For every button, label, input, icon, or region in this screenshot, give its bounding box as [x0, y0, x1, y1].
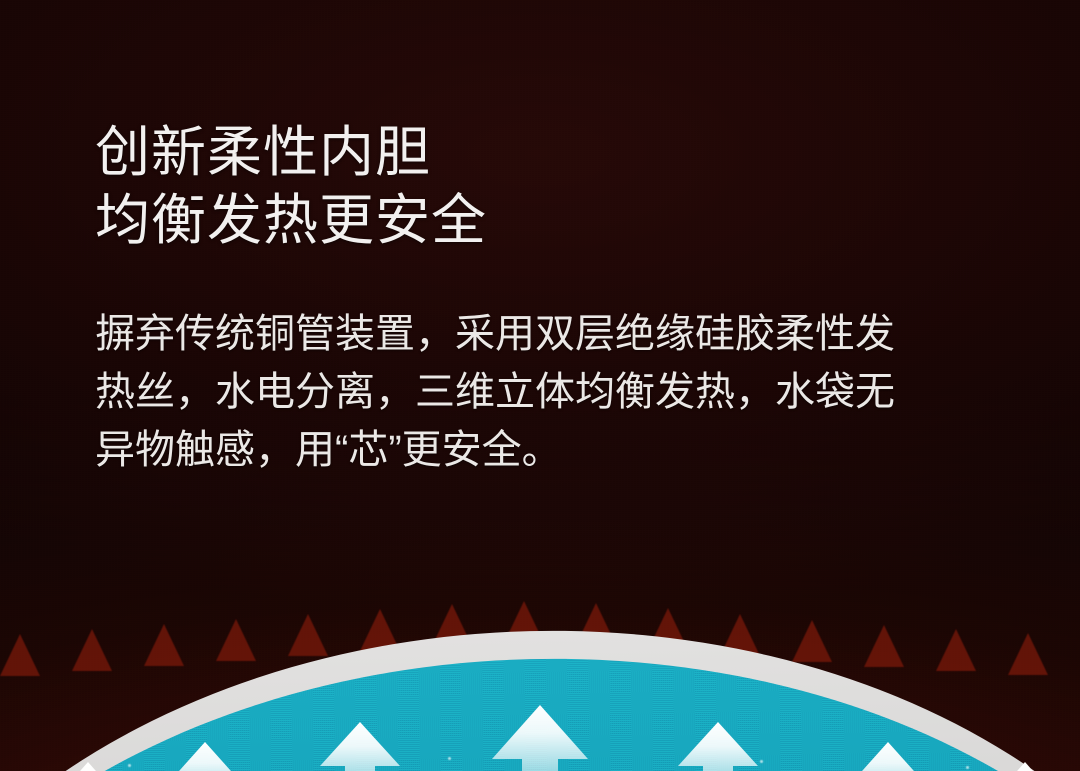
water-glint	[966, 766, 969, 769]
arrow-head	[320, 722, 400, 766]
arrow-head	[995, 762, 1055, 771]
rising-heat-arrow	[320, 722, 400, 771]
heat-wave-triangle	[792, 620, 832, 662]
rising-heat-arrow	[854, 742, 922, 771]
rising-heat-arrow	[492, 705, 588, 771]
heat-wave-triangle	[936, 629, 976, 671]
banner-canvas: 创新柔性内胆 均衡发热更安全 摒弃传统铜管装置，采用双层绝缘硅胶柔性发 热丝，水…	[0, 0, 1080, 771]
heat-wave-triangle	[1008, 633, 1048, 675]
body-description: 摒弃传统铜管装置，采用双层绝缘硅胶柔性发 热丝，水电分离，三维立体均衡发热，水袋…	[95, 305, 1000, 479]
water-glint	[448, 757, 451, 760]
heat-wave-triangle	[864, 625, 904, 667]
arrow-shaft	[522, 759, 558, 771]
arrow-head	[171, 742, 239, 771]
arrow-head	[854, 742, 922, 771]
page-title: 创新柔性内胆 均衡发热更安全	[95, 118, 487, 254]
heat-wave-triangle	[288, 614, 328, 656]
rising-heat-arrow	[58, 762, 118, 771]
heat-wave-triangle	[72, 629, 112, 671]
heat-wave-triangle	[216, 619, 256, 661]
water-glint	[760, 760, 763, 763]
rising-heat-arrow	[171, 742, 239, 771]
arrow-shaft	[703, 766, 733, 771]
arrow-head	[58, 762, 118, 771]
arrow-head	[492, 705, 588, 759]
heat-wave-triangle	[144, 624, 184, 666]
arrow-shaft	[345, 766, 375, 771]
arrow-head	[678, 722, 758, 766]
heat-distribution-illustration	[0, 571, 1080, 771]
rising-heat-arrow	[995, 762, 1055, 771]
heat-wave-triangle	[0, 634, 40, 676]
water-glint	[128, 764, 131, 767]
rising-heat-arrow	[678, 722, 758, 771]
